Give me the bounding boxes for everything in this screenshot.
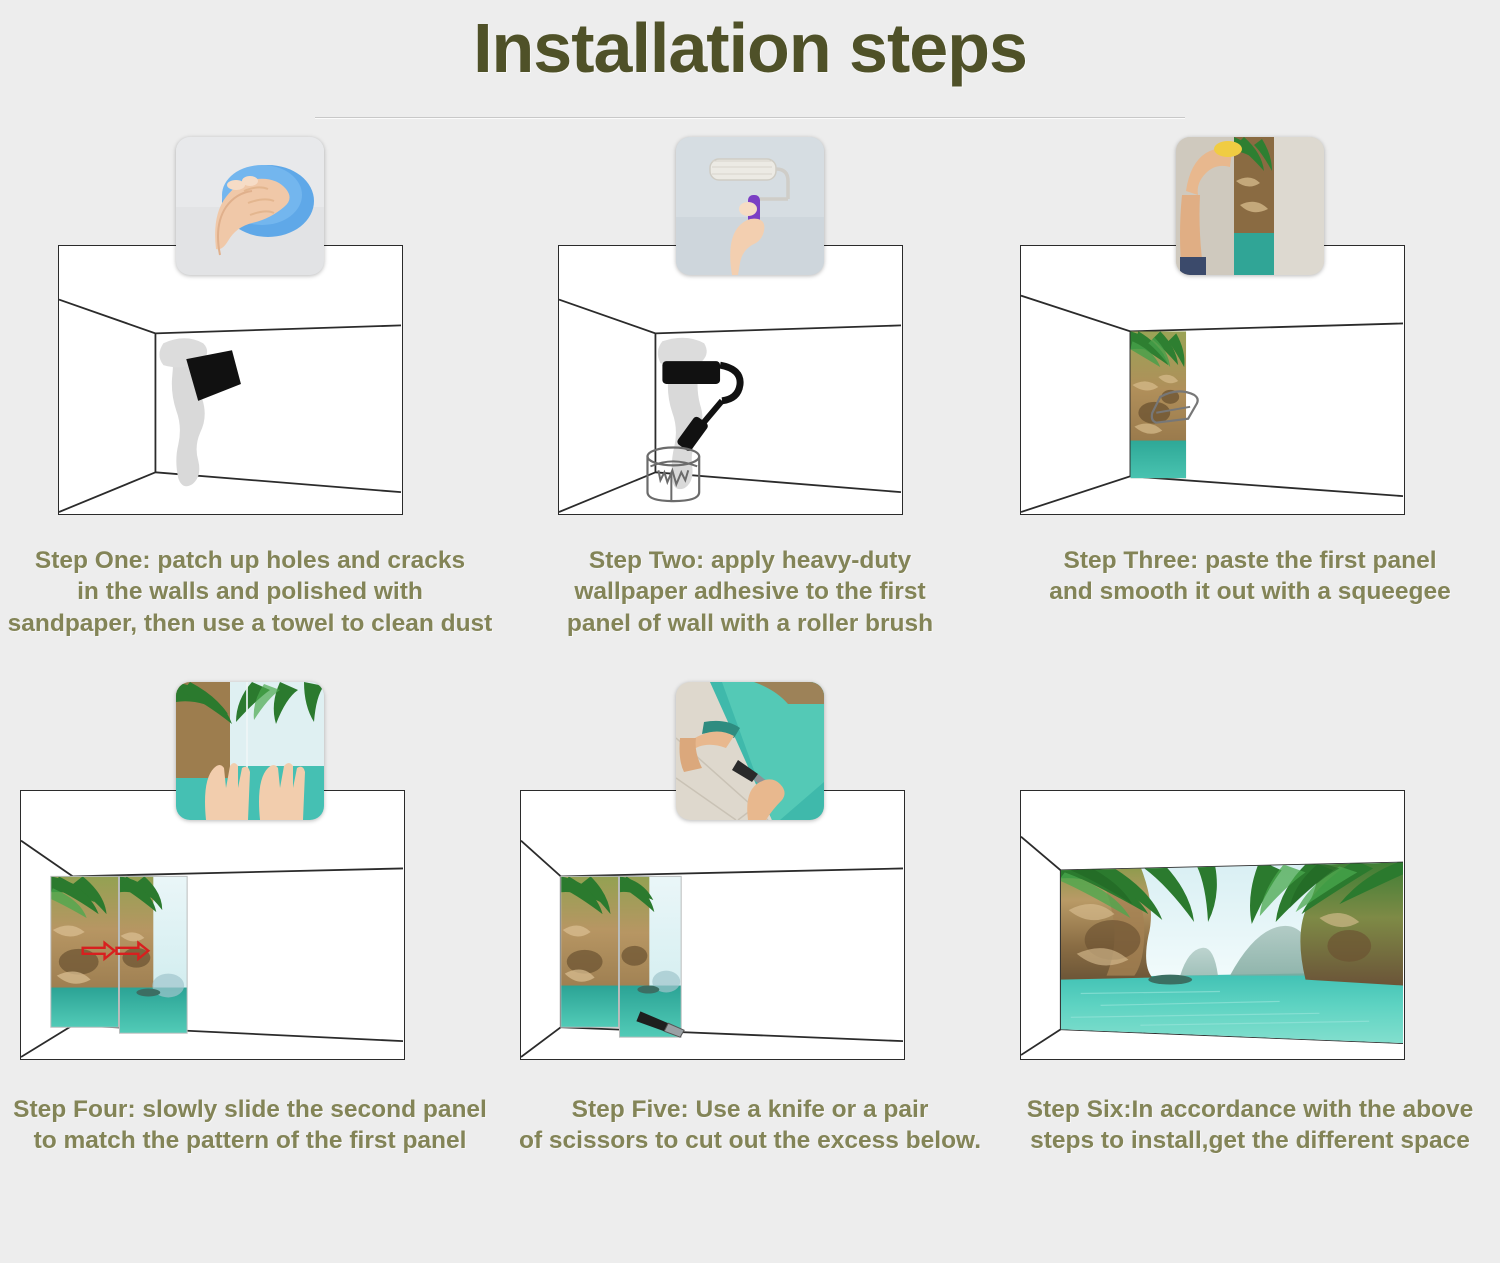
caption-line: in the walls and polished with [6, 576, 494, 608]
step-card-two: Step Two: apply heavy-duty wallpaper adh… [500, 137, 1000, 682]
caption-line: wallpaper adhesive to the first [506, 576, 994, 608]
caption-line: Step Six:In accordance with the above [1006, 1094, 1494, 1126]
thumbnail-photo-four [176, 682, 324, 820]
room-diagram-six [1020, 790, 1405, 1060]
room-diagram-one [58, 245, 403, 515]
step-two-illustration [500, 137, 1000, 537]
step-card-three: Step Three: paste the first panel and sm… [1000, 137, 1500, 682]
step-card-one: Step One: patch up holes and cracks in t… [0, 137, 500, 682]
complete-tropical-lagoon-mural [1059, 858, 1404, 1047]
title-divider [315, 117, 1185, 119]
steps-grid: Step One: patch up holes and cracks in t… [0, 137, 1500, 1242]
caption-line: steps to install,get the different space [1006, 1125, 1494, 1157]
caption-line: panel of wall with a roller brush [506, 608, 994, 640]
caption-line: Step Three: paste the first panel [1006, 545, 1494, 577]
step-four-caption: Step Four: slowly slide the second panel… [0, 1094, 500, 1158]
caption-line: Step One: patch up holes and cracks [6, 545, 494, 577]
first-mural-panel [1130, 331, 1186, 478]
page-title: Installation steps [0, 0, 1500, 89]
thumbnail-photo-two [676, 137, 824, 275]
caption-line: Step Four: slowly slide the second panel [6, 1094, 494, 1126]
room-diagram-five [520, 790, 905, 1060]
caption-line: of scissors to cut out the excess below. [506, 1125, 994, 1157]
mural-panel-second [619, 876, 681, 1037]
step-four-illustration [0, 682, 500, 1082]
caption-line: to match the pattern of the first panel [6, 1125, 494, 1157]
caption-line: sandpaper, then use a towel to clean dus… [6, 608, 494, 640]
room-diagram-three [1020, 245, 1405, 515]
thumbnail-photo-three [1176, 137, 1324, 275]
step-two-caption: Step Two: apply heavy-duty wallpaper adh… [500, 545, 1000, 641]
step-one-illustration [0, 137, 500, 537]
step-three-caption: Step Three: paste the first panel and sm… [1000, 545, 1500, 609]
step-card-five: Step Five: Use a knife or a pair of scis… [500, 682, 1000, 1242]
step-card-four: Step Four: slowly slide the second panel… [0, 682, 500, 1242]
caption-line: Step Five: Use a knife or a pair [506, 1094, 994, 1126]
caption-line: Step Two: apply heavy-duty [506, 545, 994, 577]
caption-line: and smooth it out with a squeegee [1006, 576, 1494, 608]
room-diagram-two [558, 245, 903, 515]
step-three-illustration [1000, 137, 1500, 537]
step-card-six: Step Six:In accordance with the above st… [1000, 682, 1500, 1242]
step-six-caption: Step Six:In accordance with the above st… [1000, 1094, 1500, 1158]
step-six-illustration [1000, 682, 1500, 1082]
step-five-illustration [500, 682, 1000, 1082]
thumbnail-photo-five [676, 682, 824, 820]
step-five-caption: Step Five: Use a knife or a pair of scis… [500, 1094, 1000, 1158]
mural-panel-first [561, 876, 619, 1027]
room-diagram-four [20, 790, 405, 1060]
step-one-caption: Step One: patch up holes and cracks in t… [0, 545, 500, 641]
thumbnail-photo-one [176, 137, 324, 275]
